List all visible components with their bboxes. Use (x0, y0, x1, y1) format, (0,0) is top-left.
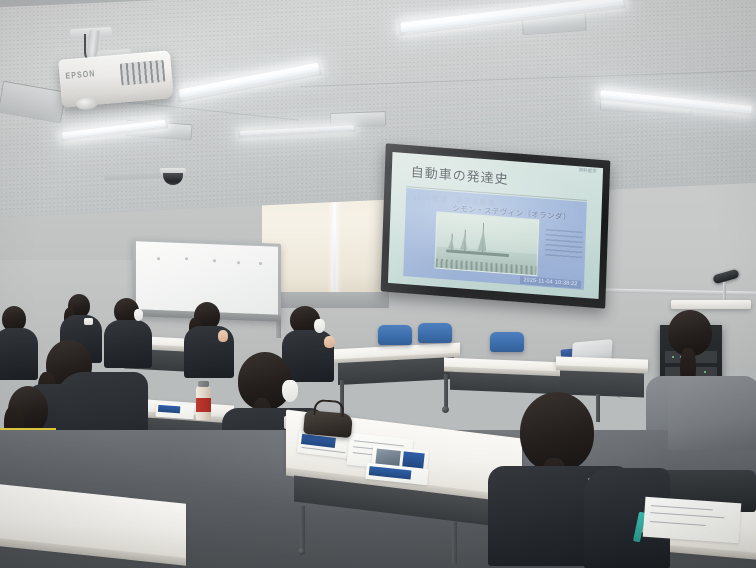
slide-caption: 2025-11-04 10:38:22 (520, 276, 581, 289)
handout-header (158, 405, 180, 414)
slide-corner-mark: 資料提供 (579, 168, 597, 175)
desk-leg (300, 506, 305, 550)
shirt-collar (84, 318, 93, 325)
projector-brand-label: EPSON (65, 70, 96, 81)
slide-side-text-block (545, 229, 582, 260)
desk-caster (442, 406, 449, 413)
desk-modesty-panel (450, 372, 560, 395)
projector-icon: EPSON (58, 50, 174, 108)
drink-bottle[interactable] (196, 386, 211, 420)
whiteboard-magnet (185, 257, 188, 260)
projection-screen[interactable]: 資料提供 自動車の発達史 1600年頃 帆走自動車 シモン・ステヴィン（オランダ… (381, 143, 611, 308)
desk-caster (298, 548, 305, 555)
slide-content-panel: 1600年頃 帆走自動車 シモン・ステヴィン（オランダ） 2025-11-04 … (403, 188, 587, 290)
handout-text-line (650, 521, 706, 526)
face-mask (314, 319, 325, 333)
desk-modesty-panel (338, 357, 454, 385)
handout-text-line (301, 447, 345, 453)
whiteboard-magnet (213, 259, 216, 262)
handbag-handle (313, 399, 344, 417)
torso (0, 328, 38, 380)
bottle-label (196, 398, 211, 412)
rack-status-led (672, 356, 674, 358)
torso (104, 320, 152, 368)
classroom-photo: EPSON 資料提供 自動車の発達史 1600年頃 帆走自動車 シモン・ステヴィ… (0, 0, 756, 568)
handout-sheet[interactable] (643, 497, 742, 544)
chair[interactable] (490, 332, 524, 352)
projector-vent (120, 60, 166, 86)
handout-sheet[interactable] (156, 403, 195, 420)
handout-text-line (650, 512, 724, 518)
bottle-cap (198, 381, 209, 387)
desk-leg (444, 374, 448, 408)
rack-status-led (704, 371, 706, 373)
chair[interactable] (378, 325, 412, 345)
face-mask (282, 380, 298, 402)
handout-header (369, 466, 412, 479)
podium (671, 300, 751, 309)
face-mask (134, 309, 143, 321)
whiteboard-magnet (259, 262, 262, 265)
handout-text-line (651, 505, 713, 510)
screen-surface: 資料提供 自動車の発達史 1600年頃 帆走自動車 シモン・ステヴィン（オランダ… (388, 152, 603, 299)
slide-engraving-image (434, 212, 539, 276)
slide-title: 自動車の発達史 (411, 161, 509, 188)
desk-leg (452, 522, 457, 564)
torso (668, 376, 756, 450)
chair[interactable] (418, 323, 452, 343)
whiteboard-magnet (157, 257, 160, 260)
desk-leg (596, 394, 600, 422)
desk-modesty-panel (560, 371, 644, 398)
hand (324, 336, 335, 348)
hand (218, 330, 228, 342)
whiteboard-magnet (237, 261, 240, 264)
